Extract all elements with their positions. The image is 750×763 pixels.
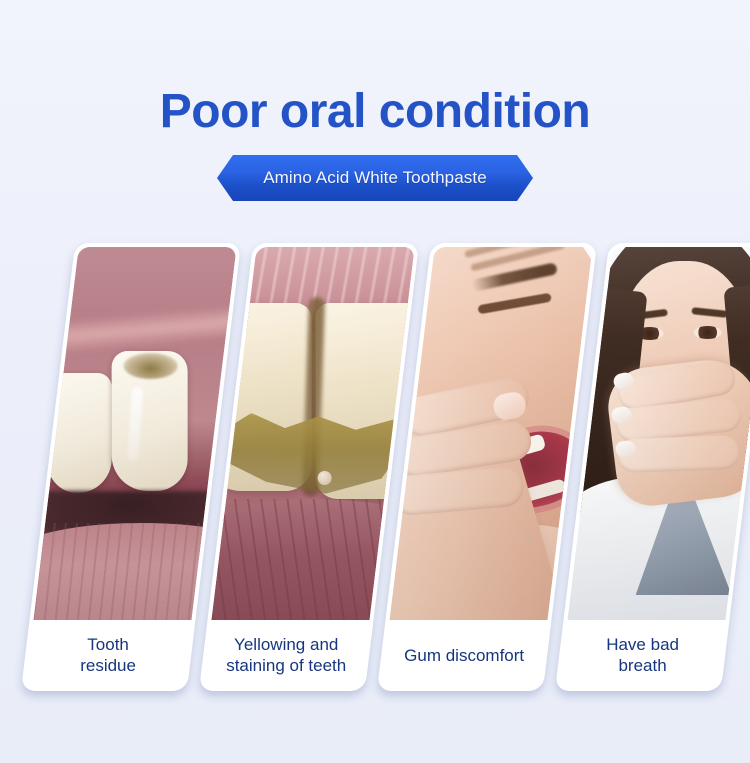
card-caption-text: Have bad breath <box>606 634 679 677</box>
saliva-bubble-shape <box>318 471 332 485</box>
page-title: Poor oral condition <box>0 88 750 136</box>
banner-container: Amino Acid White Toothpaste <box>0 155 750 201</box>
bad-breath-image <box>567 247 750 620</box>
card-caption: Yellowing and staining of teeth <box>203 620 370 691</box>
card-photo <box>211 247 414 620</box>
lower-lip-shape <box>33 523 236 620</box>
tooth-shape <box>48 373 112 493</box>
page-root: Poor oral condition Amino Acid White Too… <box>0 0 750 763</box>
card-caption-text: Gum discomfort <box>404 645 524 666</box>
banner-label: Amino Acid White Toothpaste <box>263 168 487 188</box>
card-inner: Tooth residue <box>25 247 237 691</box>
card-caption: Have bad breath <box>559 620 726 691</box>
condition-card-list: Tooth residue <box>0 243 750 698</box>
card-caption-text: Yellowing and staining of teeth <box>226 634 346 677</box>
card-caption-text: Tooth residue <box>80 634 136 677</box>
product-banner: Amino Acid White Toothpaste <box>217 155 533 201</box>
residue-stain-shape <box>124 353 178 379</box>
finger-shape <box>617 435 740 473</box>
yellow-staining-image <box>211 247 414 620</box>
card-inner: Yellowing and staining of teeth <box>203 247 415 691</box>
lower-gum-shape <box>211 499 414 620</box>
eye-shape <box>694 326 722 339</box>
card-caption: Tooth residue <box>25 620 192 691</box>
gum-discomfort-image <box>389 247 592 620</box>
card-photo <box>33 247 236 620</box>
card-caption: Gum discomfort <box>381 620 548 691</box>
card-inner: Gum discomfort <box>381 247 593 691</box>
tooth-residue-image <box>33 247 236 620</box>
card-photo <box>567 247 750 620</box>
card-photo <box>389 247 592 620</box>
